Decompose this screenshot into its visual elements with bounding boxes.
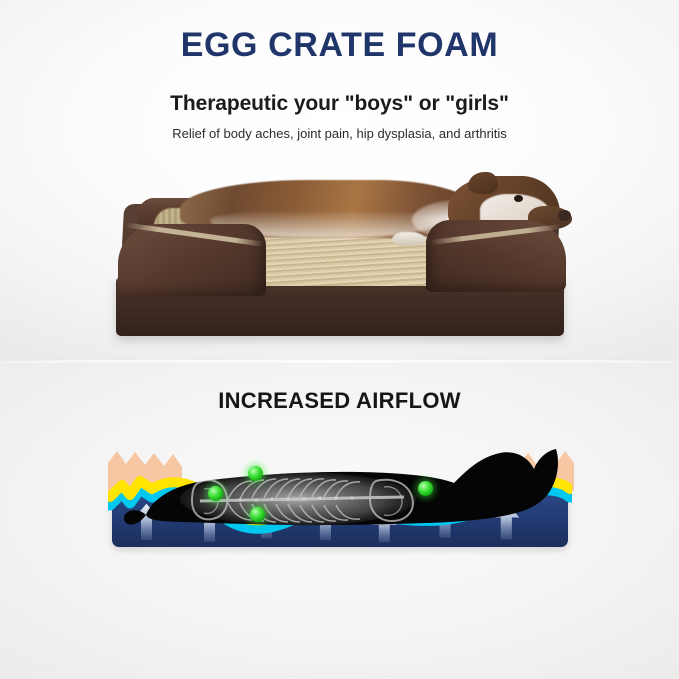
dog-bed-product-photo: [96, 168, 584, 340]
page-title: EGG CRATE FOAM: [0, 26, 679, 65]
pressure-point-dot: [248, 466, 263, 481]
increased-airflow-panel: INCREASED AIRFLOW: [0, 363, 679, 679]
dog-eye: [514, 195, 523, 202]
dog-ear: [468, 172, 498, 194]
bed-left-bolster: [118, 224, 266, 296]
dog-nose: [558, 210, 571, 221]
pressure-point-dot: [418, 481, 433, 496]
pressure-point-dot: [250, 507, 265, 522]
airflow-cross-section-diagram: [108, 423, 572, 583]
bed-right-bolster: [426, 220, 566, 292]
section-title-airflow: INCREASED AIRFLOW: [0, 388, 679, 414]
egg-crate-foam-panel: EGG CRATE FOAM Therapeutic your "boys" o…: [0, 0, 679, 361]
subheading: Therapeutic your "boys" or "girls": [0, 92, 679, 116]
dog-paw: [392, 232, 426, 246]
benefit-tagline: Relief of body aches, joint pain, hip dy…: [0, 126, 679, 141]
pressure-point-dot: [208, 486, 223, 501]
dog-silhouette-xray-group: [108, 423, 572, 583]
product-infographic-poster: EGG CRATE FOAM Therapeutic your "boys" o…: [0, 0, 679, 679]
